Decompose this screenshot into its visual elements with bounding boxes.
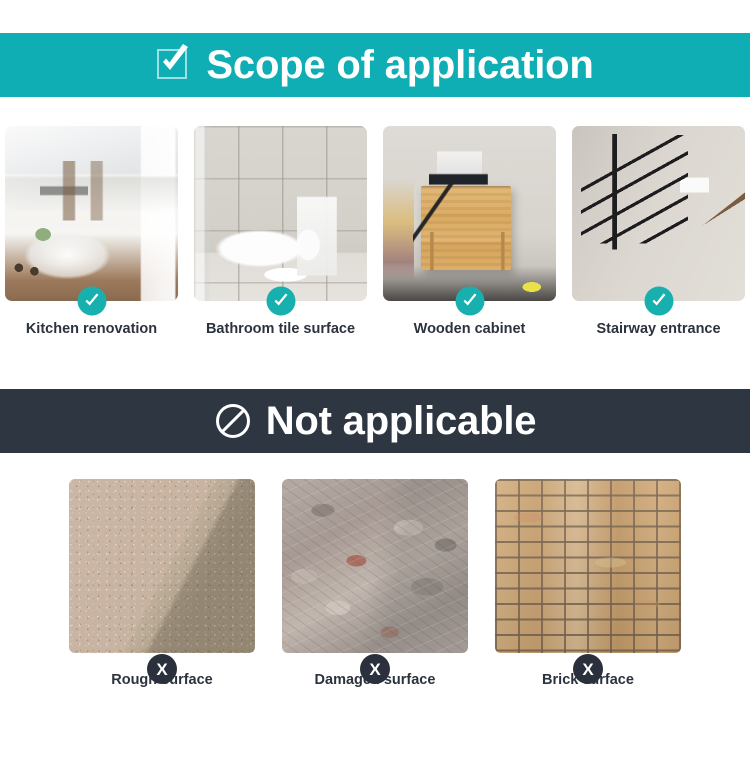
scope-card-row: Kitchen renovation Bathroom tile surface… — [0, 97, 750, 342]
scope-card-caption: Bathroom tile surface — [206, 321, 355, 337]
brick-wall-photo — [495, 479, 681, 653]
scope-card-stairway-entrance[interactable]: Stairway entrance — [572, 126, 745, 342]
prohibition-icon — [214, 402, 252, 440]
cross-glyph: X — [369, 661, 380, 678]
not-applicable-card-damaged-surface[interactable]: X Damaged surface — [282, 479, 468, 688]
not-applicable-banner: Not applicable — [0, 389, 750, 453]
check-icon — [77, 287, 106, 316]
scope-banner-title: Scope of application — [206, 45, 593, 85]
scope-card-caption: Kitchen renovation — [26, 321, 157, 337]
cross-icon: X — [573, 654, 603, 684]
not-applicable-card-row: X Rough surface X Damaged surface X Bric… — [0, 453, 750, 688]
scope-card-caption: Wooden cabinet — [414, 321, 526, 337]
checkbox-checked-icon — [156, 47, 192, 83]
scope-card-wooden-cabinet[interactable]: Wooden cabinet — [383, 126, 556, 342]
cross-glyph: X — [582, 661, 593, 678]
check-icon — [644, 287, 673, 316]
cross-icon: X — [360, 654, 390, 684]
wooden-cabinet-photo — [383, 126, 556, 301]
not-applicable-card-rough-surface[interactable]: X Rough surface — [69, 479, 255, 688]
cross-icon: X — [147, 654, 177, 684]
stairway-with-railing-photo — [572, 126, 745, 301]
scope-card-bathroom-tile-surface[interactable]: Bathroom tile surface — [194, 126, 367, 342]
kitchen-interior-photo — [5, 126, 178, 301]
not-applicable-banner-title: Not applicable — [266, 401, 537, 441]
check-icon — [266, 287, 295, 316]
check-icon — [455, 287, 484, 316]
not-applicable-banner-content: Not applicable — [214, 401, 537, 441]
scope-card-caption: Stairway entrance — [596, 321, 720, 337]
scope-card-kitchen-renovation[interactable]: Kitchen renovation — [5, 126, 178, 342]
scope-banner-content: Scope of application — [156, 45, 593, 85]
bathroom-tile-photo — [194, 126, 367, 301]
peeling-paint-wall-photo — [282, 479, 468, 653]
not-applicable-card-brick-surface[interactable]: X Brick surface — [495, 479, 681, 688]
scope-of-application-banner: Scope of application — [0, 33, 750, 97]
cross-glyph: X — [156, 661, 167, 678]
rough-stucco-wall-photo — [69, 479, 255, 653]
